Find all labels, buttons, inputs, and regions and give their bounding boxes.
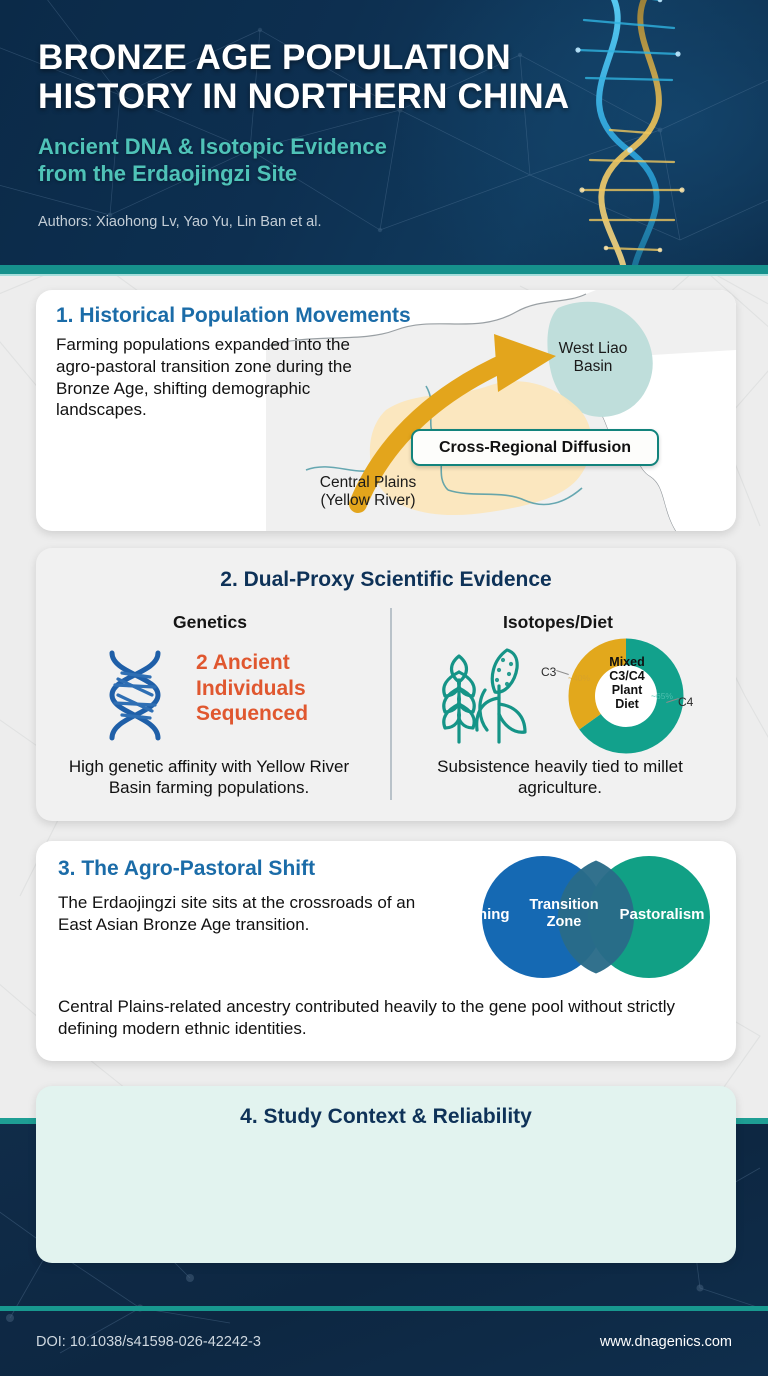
website-link[interactable]: www.dnagenics.com [600,1334,732,1350]
section1-body: Farming populations expanded into the ag… [56,334,356,421]
donut-center-line1: Mixed [591,655,663,669]
card-study-context-reliability: 4. Study Context & Reliability [36,1086,736,1263]
map-label-central-line1: Central Plains [283,474,453,492]
venn-label-transition-zone: Transition Zone [512,897,616,931]
header-banner: BRONZE AGE POPULATION HISTORY IN NORTHER… [0,0,768,265]
section3-paragraph-2: Central Plains-related ancestry contribu… [58,996,718,1040]
donut-label-c3: C3 [541,665,556,679]
section1-text: 1. Historical Population Movements Farmi… [56,304,356,421]
card-agro-pastoral-shift: 3. The Agro-Pastoral Shift The Erdaojing… [36,841,736,1061]
map-label-west-liao-basin: West Liao Basin [528,340,658,377]
infographic-page: BRONZE AGE POPULATION HISTORY IN NORTHER… [0,0,768,1376]
subtitle-line-2: from the Erdaojingzi Site [38,161,678,188]
isotopes-caption: Subsistence heavily tied to millet agric… [412,756,708,799]
page-title: BRONZE AGE POPULATION HISTORY IN NORTHER… [38,38,678,116]
donut-label-c4: C4 [678,695,693,709]
map-label-west-liao-line2: Basin [528,358,658,376]
donut-center-line2: C3/C4 [591,669,663,683]
section2-heading: 2. Dual-Proxy Scientific Evidence [36,548,736,592]
map-label-central-line2: (Yellow River) [283,492,453,510]
header-accent-bar [0,265,768,274]
venn-overlap-line2: Zone [512,914,616,931]
section1-heading: 1. Historical Population Movements [56,304,356,328]
column-divider [390,608,392,800]
isotopes-column-heading: Isotopes/Diet [408,612,708,633]
cross-regional-diffusion-badge: Cross-Regional Diffusion [411,429,659,466]
wheat-millet-icon [425,638,540,750]
title-line-1: BRONZE AGE POPULATION [38,38,678,77]
section3-heading: 3. The Agro-Pastoral Shift [58,857,315,881]
genetics-column-heading: Genetics [60,612,360,633]
map-label-west-liao-line1: West Liao [528,340,658,358]
venn-overlap-line1: Transition [512,897,616,914]
page-subtitle: Ancient DNA & Isotopic Evidence from the… [38,134,678,188]
genetics-caption: High genetic affinity with Yellow River … [48,756,370,799]
doi-text: DOI: 10.1038/s41598-026-42242-3 [36,1334,261,1350]
donut-percent-c4: ~65% [651,691,673,701]
donut-center-label: Mixed C3/C4 Plant Diet [591,655,663,711]
subtitle-line-1: Ancient DNA & Isotopic Evidence [38,134,678,161]
section3-paragraph-1: The Erdaojingzi site sits at the crossro… [58,892,418,936]
section4-heading: 4. Study Context & Reliability [36,1086,736,1129]
title-line-2: HISTORY IN NORTHERN CHINA [38,77,678,116]
donut-percent-c3: ~40% [568,673,590,683]
stat-individuals-sequenced: 2 Ancient Individuals Sequenced [196,650,376,727]
venn-label-pastoralism: Pastoralism [602,906,722,923]
dna-helix-icon [82,643,187,748]
authors-line: Authors: Xiaohong Lv, Yao Yu, Lin Ban et… [38,214,678,230]
header-text-block: BRONZE AGE POPULATION HISTORY IN NORTHER… [38,38,678,230]
footer-divider-rule [0,1306,768,1311]
map-label-central-plains: Central Plains (Yellow River) [283,474,453,511]
